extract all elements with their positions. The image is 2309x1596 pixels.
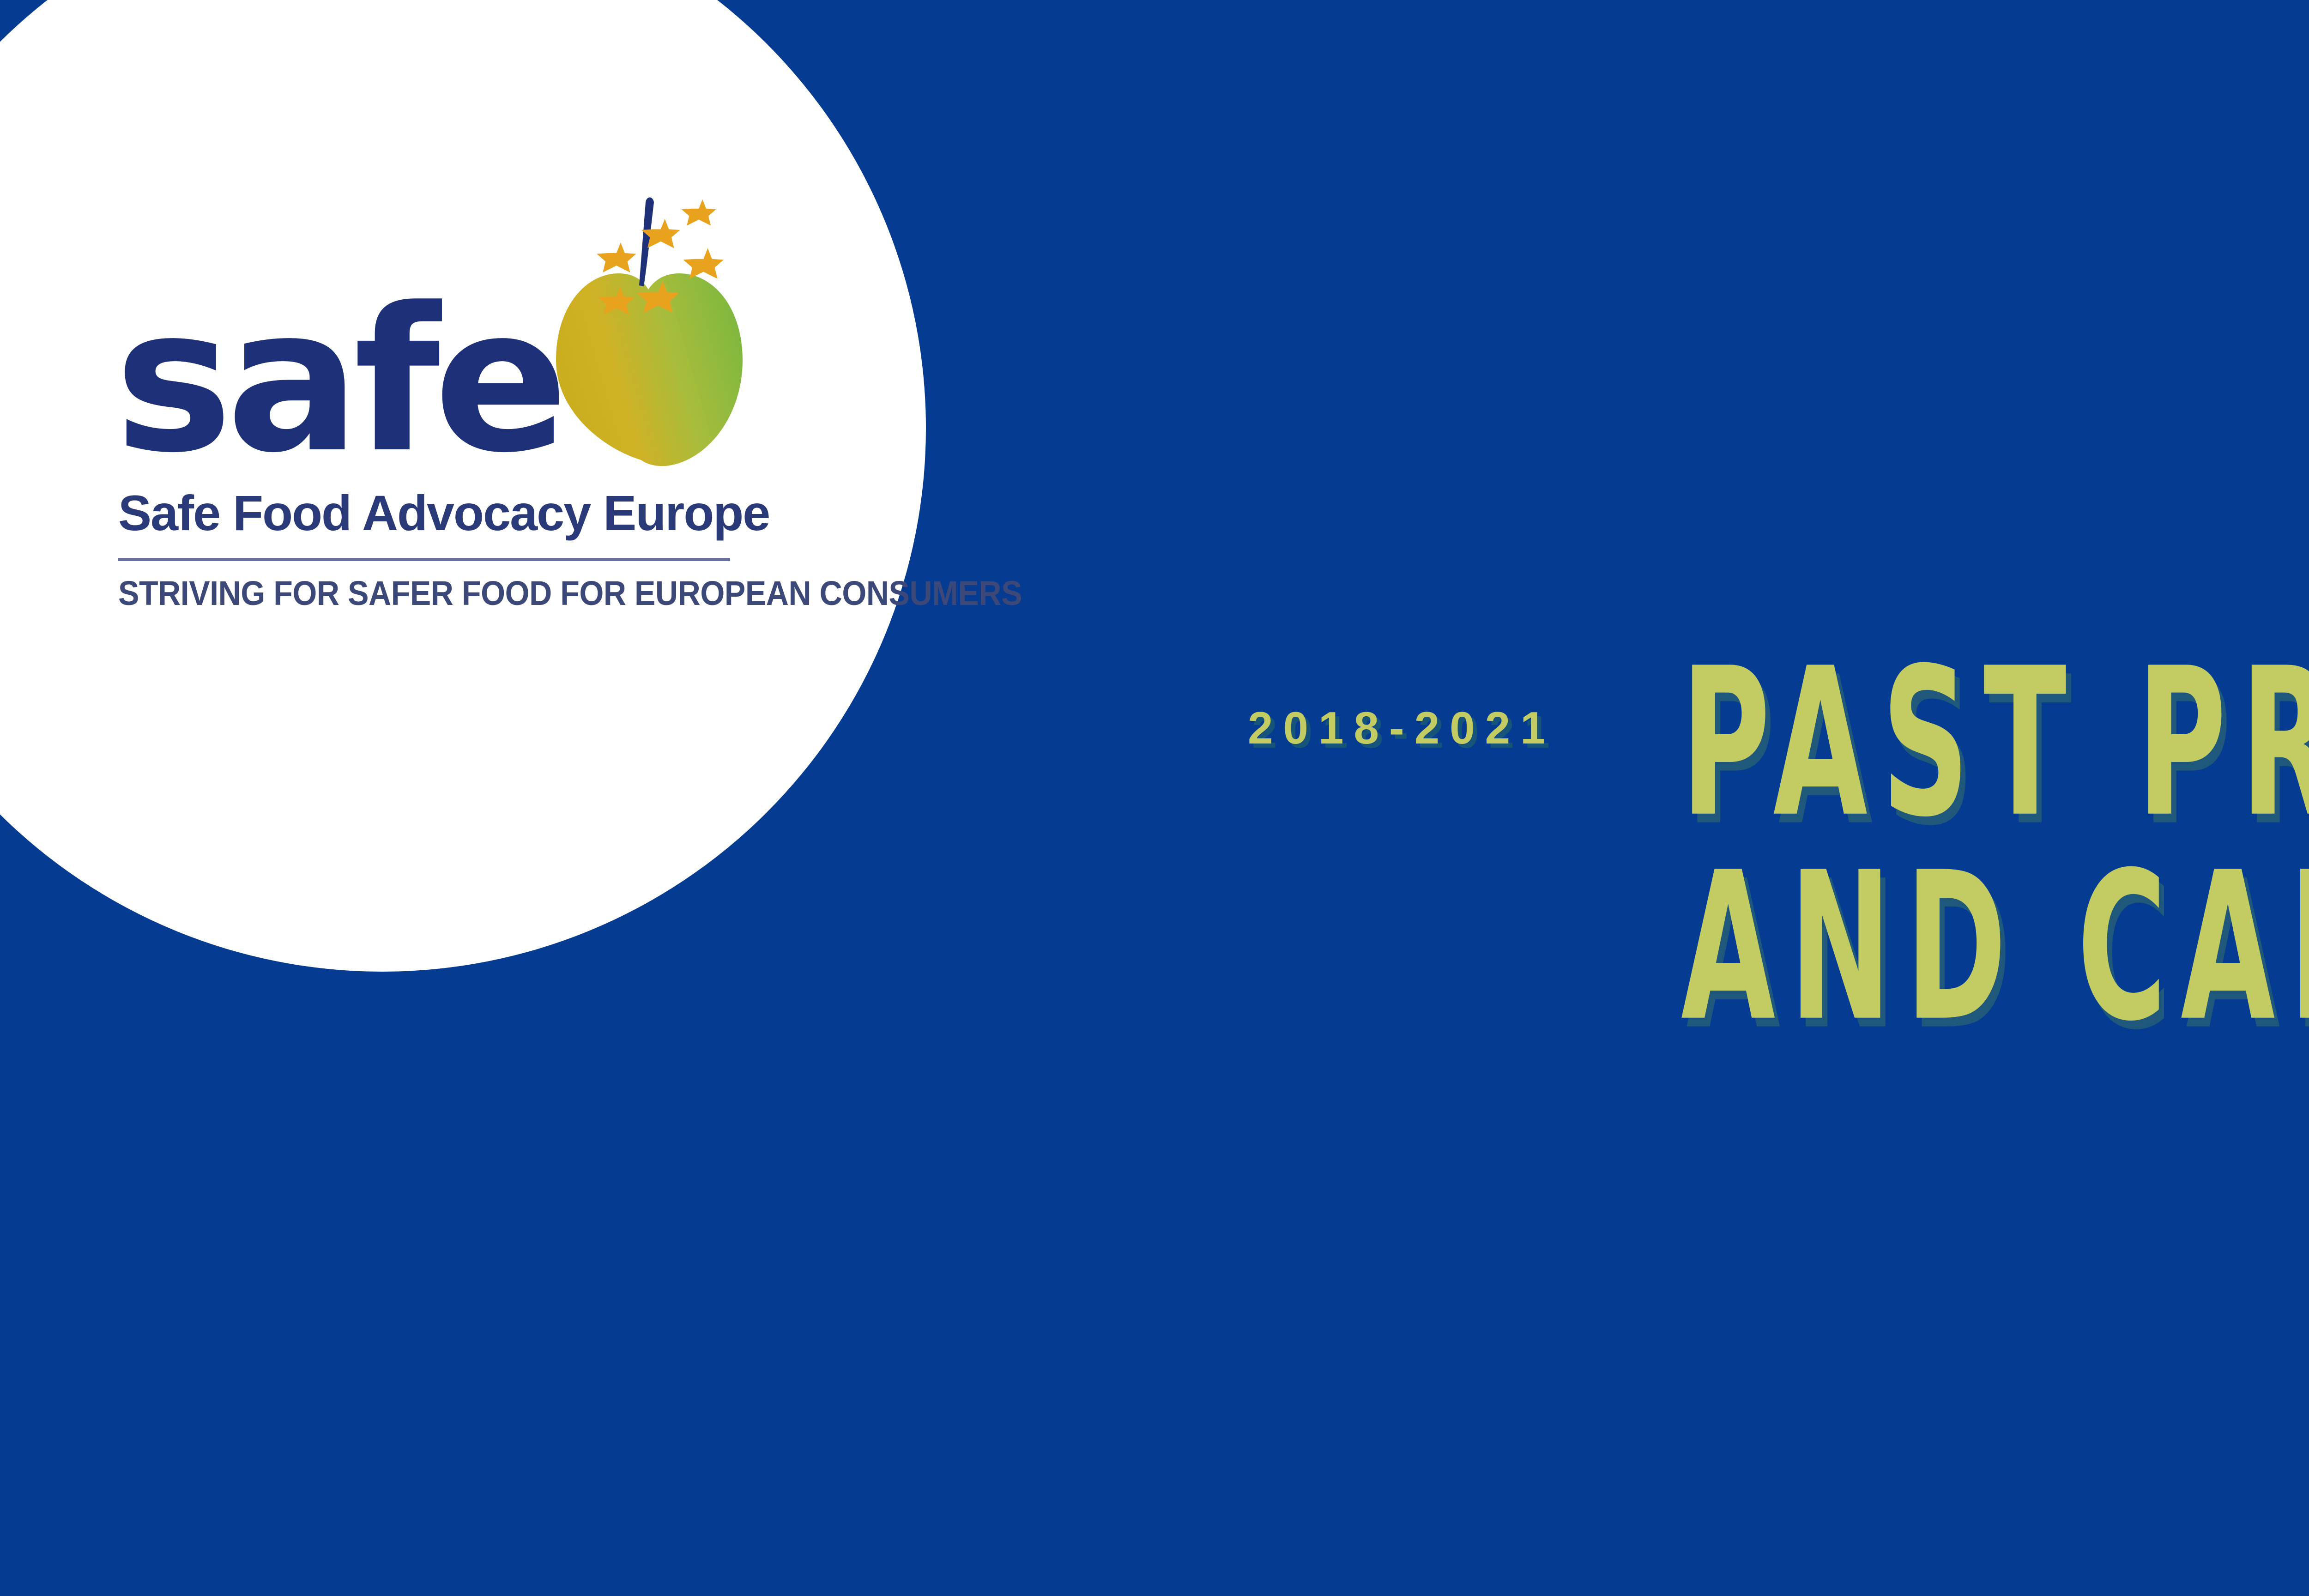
logo-subtitle: Safe Food Advocacy Europe (118, 484, 769, 542)
logo-divider (118, 558, 730, 561)
page-title-line-1: PAST PROJECTS (1681, 647, 2309, 840)
logo-artwork (549, 175, 747, 471)
logo-wordmark: safe (115, 282, 562, 480)
safe-logo: safe Safe Food Advocacy Europe STRIVING … (115, 175, 747, 619)
page-title: PAST PROJECTS AND CAMPAIGNS (1681, 647, 2309, 1054)
apple-with-stars-icon (549, 175, 747, 471)
date-range-eyebrow: 2018-2021 (1248, 702, 1556, 754)
page-title-line-2: AND CAMPAIGNS (1681, 851, 2309, 1045)
logo-tagline: STRIVING FOR SAFER FOOD FOR EUROPEAN CON… (118, 574, 1022, 613)
